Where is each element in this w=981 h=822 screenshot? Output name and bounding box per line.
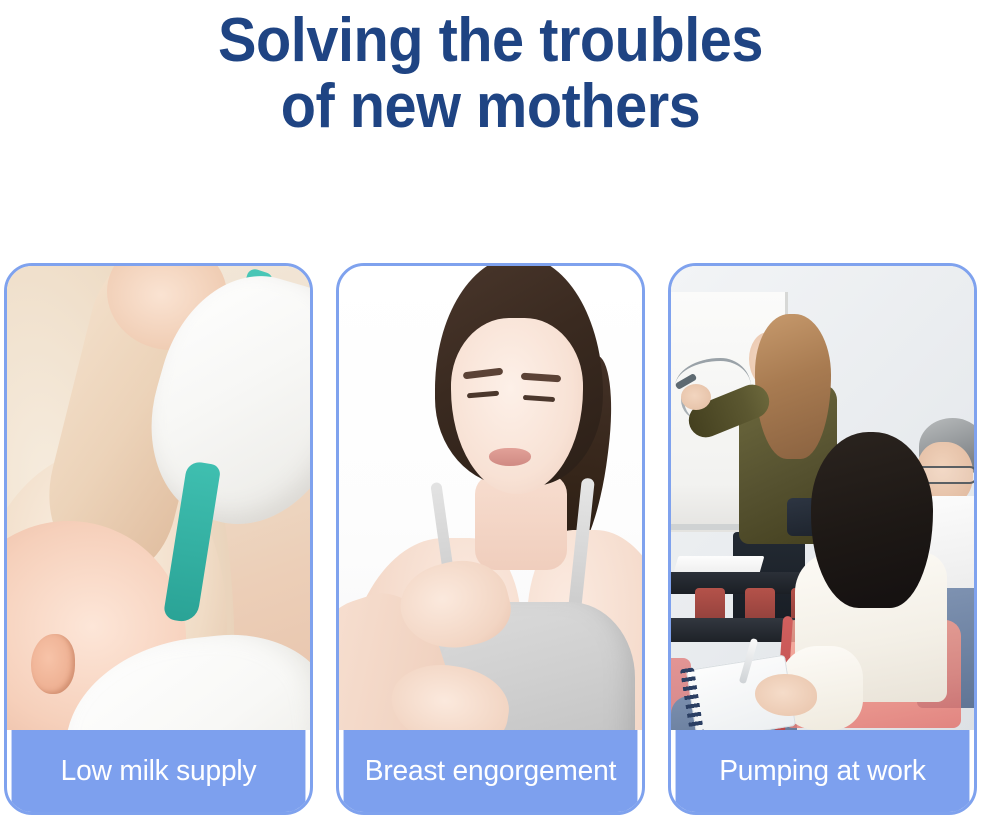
photo-low-milk-supply [7, 266, 310, 730]
empty-chair-one-shape [695, 588, 725, 622]
photo-pumping-at-work [671, 266, 974, 730]
card-caption-pumping-at-work: Pumping at work [676, 730, 970, 812]
card-pumping-at-work[interactable]: Pumping at work [668, 263, 977, 815]
seated-woman-hair-shape [811, 432, 933, 608]
page-title-line-2: of new mothers [34, 74, 946, 140]
trouble-cards-grid: Low milk supply Breast engorgement [4, 263, 977, 815]
presenter-hand-shape [681, 384, 711, 410]
page-title-line-1: Solving the troubles [34, 8, 946, 74]
card-caption-low-milk-supply: Low milk supply [12, 730, 306, 812]
baby-ear-shape [31, 634, 75, 694]
photo-breast-engorgement [339, 266, 642, 730]
card-breast-engorgement[interactable]: Breast engorgement [336, 263, 645, 815]
card-low-milk-supply[interactable]: Low milk supply [4, 263, 313, 815]
page-title: Solving the troubles of new mothers [34, 8, 946, 140]
card-caption-breast-engorgement: Breast engorgement [344, 730, 638, 812]
lips-shape [489, 448, 531, 466]
empty-chair-two-shape [745, 588, 775, 622]
presenter-hair-shape [755, 314, 831, 459]
seated-woman-hands-shape [755, 674, 817, 716]
